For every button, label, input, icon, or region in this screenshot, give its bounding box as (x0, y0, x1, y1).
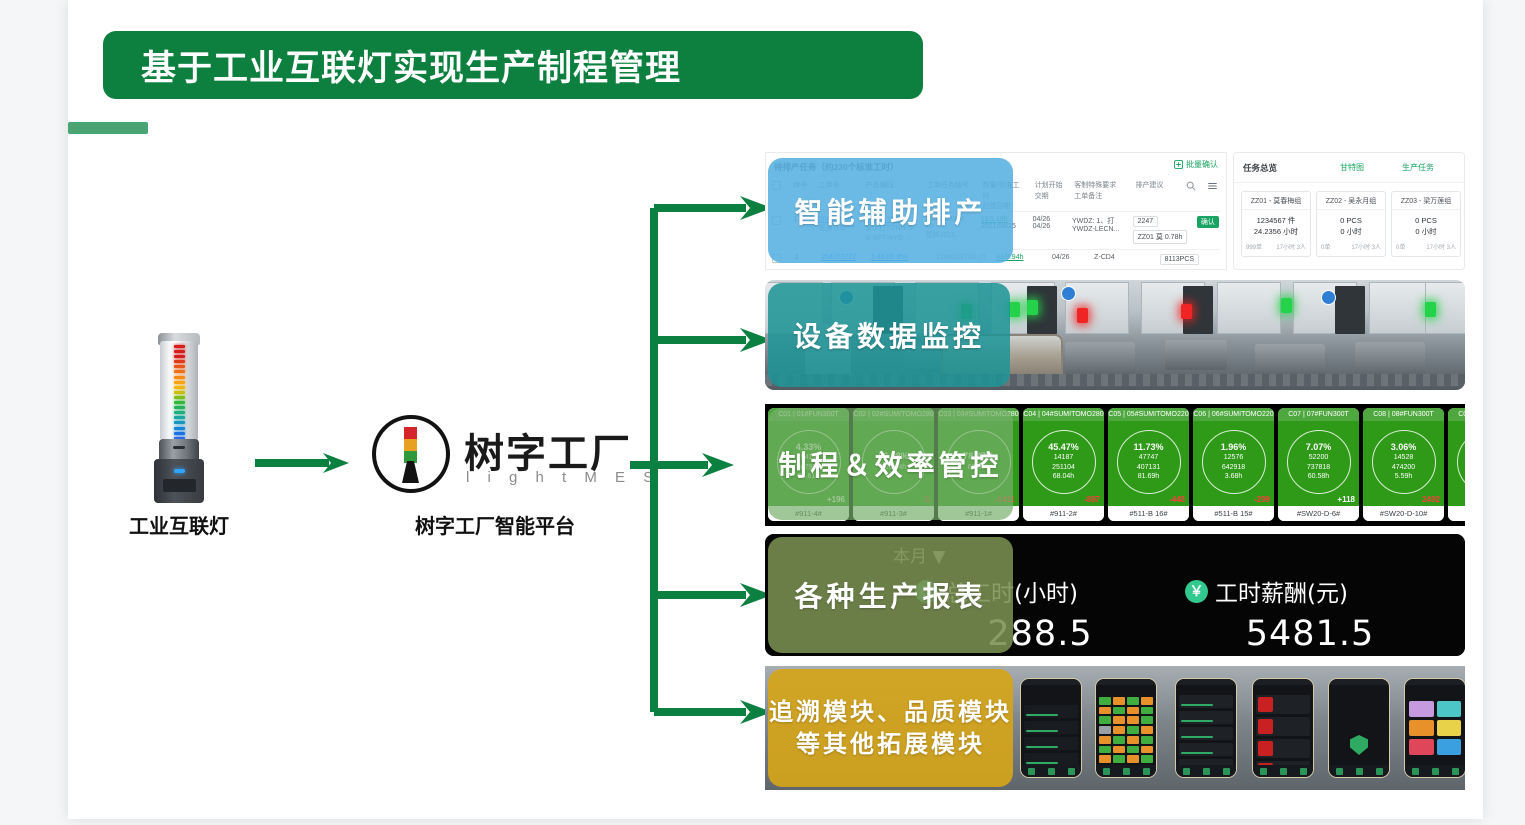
lamp-led (174, 360, 185, 363)
panel-process-efficiency[interactable]: C01 | 01#FUN300T4.33%541380798463.61h+19… (765, 404, 1465, 526)
list-item (1179, 727, 1233, 740)
platform-logo: 树字工厂 l i g h t M E S (372, 415, 622, 495)
lamp-led (174, 345, 185, 348)
phone-tabbar (1096, 765, 1156, 777)
efficiency-percent: 11.73% (1133, 442, 1163, 453)
efficiency-n3: 5.59h (1395, 472, 1413, 481)
tabbar-icon (1356, 768, 1363, 775)
phone-statusbar (1176, 679, 1236, 685)
row-confirm-button[interactable]: 确认 (1197, 216, 1219, 228)
tab-gantt[interactable]: 甘特图 (1340, 162, 1364, 173)
team-card[interactable]: ZZ03 - 梁万莲组 0 PCS 0 小时 0单 17小时 3人 (1391, 191, 1461, 257)
batch-confirm-button[interactable]: 批量确认 (1174, 159, 1218, 170)
signal-light (1009, 302, 1020, 317)
phone-tabbar (1176, 765, 1236, 777)
device-caption: 工业互联灯 (104, 510, 254, 539)
batch-confirm-label: 批量确认 (1186, 159, 1218, 170)
efficiency-n2: 642918 (1222, 463, 1245, 472)
efficiency-n1: 12576 (1224, 453, 1243, 462)
cell-suggest-qty: 8113PCS (1160, 254, 1199, 265)
page-title: 基于工业互联灯实现生产制程管理 (141, 40, 681, 91)
tabbar-icon (1452, 768, 1459, 775)
efficiency-n1: 47747 (1139, 453, 1158, 462)
lamp-led (174, 427, 185, 430)
lamp-led (174, 396, 185, 399)
phone-mockup (1175, 678, 1237, 778)
cell-start: 04/26 (1052, 254, 1070, 261)
machine-code: #SW20-D-11# (1448, 506, 1465, 521)
panel-production-reports[interactable]: 本月 ▼ ◴ 总工时(小时) 288.5 ￥ 工时薪酬(元) 5481.5 各种… (765, 534, 1465, 656)
menu-icon[interactable] (1207, 181, 1218, 191)
status-tile (1141, 755, 1153, 763)
metric-label: 工时薪酬(元) (1215, 574, 1348, 608)
tabbar-icon (1300, 768, 1307, 775)
tabbar-icon (1336, 768, 1343, 775)
team-hours: 0 小时 (1317, 226, 1385, 237)
metric-label-row: ￥ 工时薪酬(元) (1185, 574, 1435, 608)
color-card (1437, 739, 1462, 755)
team-orders: 0单 (1396, 242, 1405, 251)
efficiency-n3: 3.68h (1225, 472, 1243, 481)
status-tile (1141, 736, 1153, 744)
lamp-base-panel (163, 479, 196, 492)
phone-mockup (1328, 678, 1390, 778)
lamp-led (174, 370, 185, 373)
team-qty: 0 PCS (1317, 215, 1385, 226)
status-tile (1127, 755, 1139, 763)
efficiency-percent: 1.96% (1221, 442, 1247, 453)
status-tile (1141, 746, 1153, 754)
lamp-led (174, 401, 185, 404)
machine-code: #SW20-D-10# (1363, 506, 1444, 521)
team-footer: 999单 17小时 3人 (1242, 238, 1310, 251)
efficiency-card[interactable]: C09 | 09#FUN300T1.95%1452874399049.34h+1… (1448, 408, 1465, 521)
status-tile (1113, 707, 1125, 715)
team-card[interactable]: ZZ02 - 吴永月组 0 PCS 0 小时 0单 17小时 3人 (1316, 191, 1386, 257)
machine-code: #911-2# (1023, 506, 1104, 521)
efficiency-card[interactable]: C04 | 04#SUMITOMO28045.47%1418725110468.… (1023, 408, 1104, 521)
panel-label-extensions: 追溯模块、品质模块 等其他拓展模块 (768, 669, 1013, 787)
lamp-base (154, 459, 204, 503)
team-name: ZZ01 - 莫春梅组 (1242, 192, 1310, 210)
team-hours: 0 小时 (1392, 226, 1460, 237)
media-item (1256, 717, 1310, 736)
team-values: 1234567 件 24.2356 小时 (1242, 210, 1310, 238)
tabbar-icon (1280, 768, 1287, 775)
status-tile (1099, 707, 1111, 715)
status-tile (1099, 716, 1111, 724)
factory-machine (1165, 340, 1227, 370)
machine-code: #511-B 15# (1193, 506, 1274, 521)
phone-statusbar (1405, 679, 1465, 685)
cell-note: Z-CD4 (1094, 254, 1115, 261)
signal-light (1181, 304, 1192, 319)
list-item (1179, 695, 1233, 708)
team-capacity: 17小时 3人 (1426, 242, 1456, 251)
status-tile (1113, 716, 1125, 724)
factory-machine (1065, 342, 1135, 376)
logo-tower-icon (404, 427, 417, 463)
status-tile (1127, 697, 1139, 705)
status-tile (1141, 697, 1153, 705)
team-qty: 0 PCS (1392, 215, 1460, 226)
panel-label-text: 制程＆效率管控 (778, 444, 1002, 484)
status-tile (1099, 726, 1111, 734)
team-card[interactable]: ZZ01 - 莫春梅组 1234567 件 24.2356 小时 999单 17… (1241, 191, 1311, 257)
team-orders: 999单 (1246, 242, 1262, 251)
efficiency-delta: +118 (1337, 495, 1355, 504)
efficiency-delta: -887 (1084, 495, 1100, 504)
lamp-led (174, 386, 185, 389)
status-tile (1127, 716, 1139, 724)
phone-statusbar (1329, 679, 1389, 685)
status-tile (1127, 707, 1139, 715)
tabbar-icon (1203, 768, 1210, 775)
status-tile-grid (1099, 697, 1153, 763)
tabbar-icon (1260, 768, 1267, 775)
factory-booth (1217, 282, 1281, 334)
phone-mockup (1020, 678, 1082, 778)
status-tile (1141, 726, 1153, 734)
panel-label-scheduling: 智能辅助排产 (768, 158, 1013, 263)
col-suggest: 排产建议 (1135, 181, 1176, 192)
metric-wage: ￥ 工时薪酬(元) 5481.5 (1185, 574, 1435, 654)
efficiency-body: 1.96%125766429183.68h-299 (1193, 421, 1274, 506)
team-name: ZZ02 - 吴永月组 (1317, 192, 1385, 210)
tabbar-icon (1223, 768, 1230, 775)
team-name: ZZ03 - 梁万莲组 (1392, 192, 1460, 210)
tabbar-icon (1143, 768, 1150, 775)
factory-machine (1255, 344, 1325, 376)
safety-sign-icon (1321, 290, 1336, 305)
task-summary-title: 任务总览 (1243, 162, 1277, 174)
efficiency-card[interactable]: C07 | 07#FUN300T7.07%5220073781860.58h+1… (1278, 408, 1359, 521)
efficiency-gauge: 1.96%125766429183.68h (1202, 430, 1266, 494)
media-list (1256, 695, 1310, 763)
machine-name: C06 | 06#SUMITOMO220 (1193, 408, 1274, 421)
efficiency-gauge: 7.07%5220073781860.58h (1287, 430, 1351, 494)
phone-mockup (1252, 678, 1314, 778)
col-remark: 工单备注 (1074, 192, 1126, 203)
lamp-led (174, 391, 185, 394)
lamp-led (174, 411, 185, 414)
divider (1234, 182, 1464, 183)
efficiency-percent: 7.07% (1306, 442, 1332, 453)
platform-caption: 树字工厂智能平台 (350, 510, 640, 539)
phone-tabbar (1021, 765, 1081, 777)
cell-start: 04/26 (1033, 216, 1051, 223)
phone-tabbar (1405, 765, 1465, 777)
status-tile (1113, 697, 1125, 705)
machine-code: #511-B 16# (1108, 506, 1189, 521)
machine-name: C07 | 07#FUN300T (1278, 408, 1359, 421)
lamp-led (174, 432, 185, 435)
efficiency-n2: 737818 (1307, 463, 1330, 472)
machine-name: C04 | 04#SUMITOMO280 (1023, 408, 1104, 421)
cell-note: YWDZ: 1、打YWDZ-LECN... (1072, 218, 1119, 233)
phone-mockup (1095, 678, 1157, 778)
color-card (1437, 720, 1462, 736)
industrial-lamp-device (150, 333, 210, 503)
efficiency-n1: 52200 (1309, 453, 1328, 462)
lamp-led (174, 365, 185, 368)
panel-label-text: 设备数据监控 (793, 315, 985, 355)
team-hours: 24.2356 小时 (1242, 226, 1310, 237)
efficiency-gauge: 11.73%4774740713181.69h (1117, 430, 1181, 494)
efficiency-delta: -448 (1169, 495, 1185, 504)
cell-suggest-line: ZZ01 莫 0.78h (1133, 230, 1188, 244)
efficiency-body: 3.06%145284742005.59h2492 (1363, 421, 1444, 506)
team-footer: 0单 17小时 3人 (1317, 238, 1385, 251)
status-tile (1127, 746, 1139, 754)
status-tile (1141, 716, 1153, 724)
efficiency-body: 11.73%4774740713181.69h-448 (1108, 421, 1189, 506)
machine-code: #SW20-D-6# (1278, 506, 1359, 521)
menu-list (1024, 705, 1078, 763)
tabbar-icon (1183, 768, 1190, 775)
tab-production-task[interactable]: 生产任务 (1402, 162, 1434, 173)
efficiency-body: 1.95%1452874399049.34h+17 (1448, 421, 1465, 506)
lamp-led (174, 406, 185, 409)
col-due: 交期 (1035, 192, 1066, 203)
tabbar-icon (1123, 768, 1130, 775)
efficiency-gauge: 1.95%1452874399049.34h (1457, 430, 1466, 494)
team-orders: 0单 (1321, 242, 1330, 251)
status-tile (1141, 707, 1153, 715)
menu-item (1024, 737, 1078, 750)
panel-label-text: 智能辅助排产 (794, 191, 986, 231)
logo-tower-segment (404, 439, 417, 451)
panel-label-efficiency: 制程＆效率管控 (768, 408, 1013, 520)
efficiency-n3: 81.69h (1138, 472, 1159, 481)
lamp-led (174, 421, 185, 424)
team-values: 0 PCS 0 小时 (1392, 210, 1460, 238)
efficiency-card[interactable]: C06 | 06#SUMITOMO2201.96%125766429183.68… (1193, 408, 1274, 521)
efficiency-gauge: 3.06%145284742005.59h (1372, 430, 1436, 494)
menu-item (1024, 721, 1078, 734)
team-capacity: 17小时 3人 (1276, 242, 1306, 251)
status-tile (1099, 755, 1111, 763)
media-item (1256, 695, 1310, 714)
metric-value: 5481.5 (1185, 614, 1435, 654)
status-tile (1113, 726, 1125, 734)
arrow-device-to-platform (255, 452, 350, 474)
efficiency-body: 7.07%5220073781860.58h+118 (1278, 421, 1359, 506)
machine-name: C05 | 05#SUMITOMO220 (1108, 408, 1189, 421)
team-qty: 1234567 件 (1242, 215, 1310, 226)
panel-label-text: 各种生产报表 (794, 575, 986, 615)
efficiency-n1: 14528 (1394, 453, 1413, 462)
title-accent-bar (68, 122, 148, 134)
tabbar-icon (1048, 768, 1055, 775)
slide-page: 基于工业互联灯实现生产制程管理 工业互联灯 树字工厂 l i g h t M E… (0, 0, 1525, 825)
list-item (1179, 711, 1233, 724)
efficiency-delta: 2492 (1422, 495, 1440, 504)
factory-booth (1369, 282, 1433, 334)
search-icon[interactable] (1186, 181, 1196, 191)
efficiency-n3: 60.58h (1308, 472, 1329, 481)
lamp-led (174, 381, 185, 384)
phone-statusbar (1253, 679, 1313, 685)
slide-title-bar: 基于工业互联灯实现生产制程管理 (103, 31, 923, 99)
signal-light (1077, 308, 1088, 323)
phone-statusbar (1096, 679, 1156, 685)
tabbar-icon (1028, 768, 1035, 775)
lamp-led-strip (174, 345, 185, 437)
lamp-led (174, 355, 185, 358)
col-custom: 客制特殊要求 (1074, 181, 1126, 192)
color-card (1409, 739, 1434, 755)
color-card (1409, 701, 1434, 717)
team-values: 0 PCS 0 小时 (1317, 210, 1385, 238)
factory-machine (1355, 342, 1425, 376)
phone-mockup (1404, 678, 1465, 778)
lamp-led (174, 376, 185, 379)
signal-light (1425, 302, 1436, 317)
status-tile (1099, 736, 1111, 744)
machine-name: C09 | 09#FUN300T (1448, 408, 1465, 421)
cell-suggest-qty: 2247 (1133, 216, 1159, 227)
lamp-led (174, 350, 185, 353)
status-tile (1113, 755, 1125, 763)
status-tile (1099, 697, 1111, 705)
factory-door (1335, 286, 1365, 334)
phone-tabbar (1329, 765, 1389, 777)
menu-item (1024, 705, 1078, 718)
panel-label-line2: 等其他拓展模块 (796, 728, 985, 760)
lamp-led (174, 416, 185, 419)
efficiency-n1: 14187 (1054, 453, 1073, 462)
status-tile (1099, 746, 1111, 754)
efficiency-percent: 3.06% (1391, 442, 1417, 453)
list-item (1179, 743, 1233, 756)
plus-box-icon (1174, 160, 1183, 169)
phone-statusbar (1021, 679, 1081, 685)
efficiency-card[interactable]: C08 | 08#FUN300T3.06%145284742005.59h249… (1363, 408, 1444, 521)
efficiency-n2: 251104 (1052, 463, 1075, 472)
panel-label-line1: 追溯模块、品质模块 (769, 696, 1012, 728)
tabbar-icon (1376, 768, 1383, 775)
efficiency-percent: 45.47% (1048, 442, 1079, 453)
status-tile (1113, 746, 1125, 754)
efficiency-gauge: 45.47%1418725110468.04h (1032, 430, 1096, 494)
team-card-list: ZZ01 - 莫春梅组 1234567 件 24.2356 小时 999单 17… (1241, 191, 1461, 257)
efficiency-delta: -299 (1254, 495, 1270, 504)
efficiency-n2: 474200 (1392, 463, 1415, 472)
signal-light (1281, 298, 1292, 313)
color-card (1437, 701, 1462, 717)
machine-name: C08 | 08#FUN300T (1363, 408, 1444, 421)
panel-label-reports: 各种生产报表 (768, 537, 1013, 653)
tabbar-icon (1068, 768, 1075, 775)
team-capacity: 17小时 3人 (1351, 242, 1381, 251)
panel-equipment-monitoring[interactable]: 设备数据监控 (765, 280, 1465, 390)
status-tile (1127, 736, 1139, 744)
status-tile (1113, 736, 1125, 744)
panel-extension-modules[interactable]: 追溯模块、品质模块 等其他拓展模块 (765, 666, 1465, 790)
efficiency-n2: 407131 (1137, 463, 1160, 472)
tabbar-icon (1103, 768, 1110, 775)
panel-scheduling[interactable]: 待排产任务（约230个标准工时） 批量确认 序号 工单号 产品编码 工单任务编号 (765, 152, 1465, 270)
media-item (1256, 739, 1310, 758)
lamp-slot (173, 446, 185, 449)
task-list (1179, 695, 1233, 763)
panel-label-equipment: 设备数据监控 (768, 283, 1010, 387)
phone-tabbar (1253, 765, 1313, 777)
efficiency-card[interactable]: C05 | 05#SUMITOMO22011.73%4774740713181.… (1108, 408, 1189, 521)
yen-icon: ￥ (1185, 580, 1208, 603)
signal-light (1027, 300, 1038, 315)
col-start: 计划开始 (1035, 181, 1066, 192)
color-card (1409, 720, 1434, 736)
tabbar-icon (1432, 768, 1439, 775)
efficiency-n3: 68.04h (1053, 472, 1074, 481)
color-card-grid (1409, 701, 1461, 763)
tabbar-icon (1412, 768, 1419, 775)
logo-tower-segment (404, 427, 417, 439)
team-footer: 0单 17小时 3人 (1392, 238, 1460, 251)
cell-due: 04/26 (1033, 223, 1051, 230)
lamp-status-led (174, 469, 185, 473)
status-tile (1127, 726, 1139, 734)
task-summary-card: 任务总览 甘特图 生产任务 ZZ01 - 莫春梅组 1234567 件 24.2… (1233, 152, 1465, 270)
safety-sign-icon (1061, 286, 1076, 301)
efficiency-body: 45.47%1418725110468.04h-887 (1023, 421, 1104, 506)
